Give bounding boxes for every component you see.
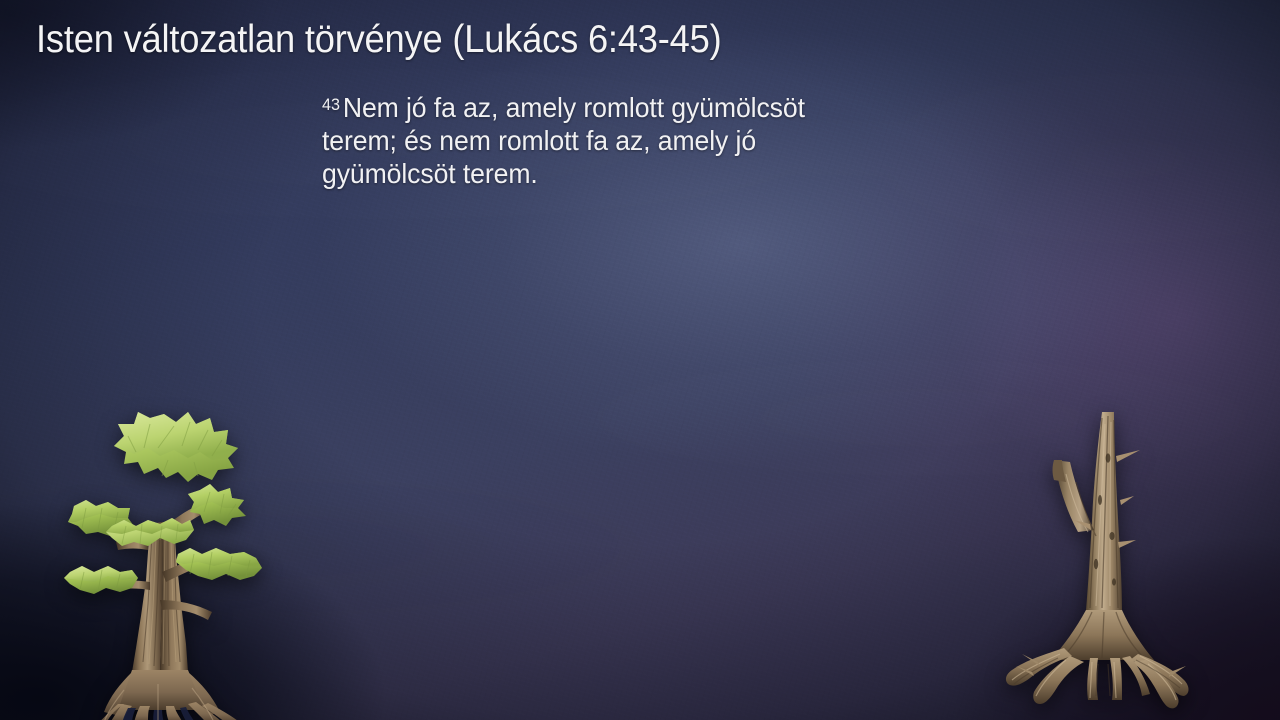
- slide-title: Isten változatlan törvénye (Lukács 6:43-…: [36, 18, 873, 62]
- verse-body: 43Nem jó fa az, amely romlott gyümölcsöt…: [322, 88, 854, 190]
- verse-number: 43: [322, 95, 343, 114]
- verse-text: Nem jó fa az, amely romlott gyümölcsöt t…: [322, 92, 805, 189]
- presentation-slide: Isten változatlan törvénye (Lukács 6:43-…: [0, 0, 1280, 720]
